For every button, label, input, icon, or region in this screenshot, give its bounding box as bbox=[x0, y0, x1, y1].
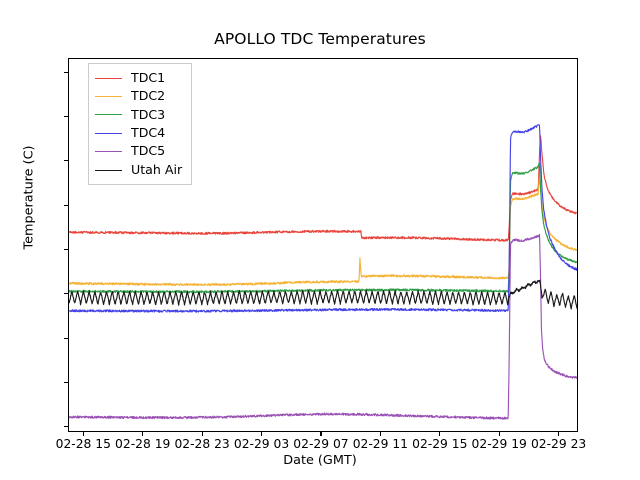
legend-item-label: TDC3 bbox=[131, 109, 165, 122]
legend-item-label: TDC5 bbox=[131, 145, 165, 158]
x-axis-tick-mark bbox=[142, 432, 143, 436]
legend-item-label: TDC2 bbox=[131, 90, 165, 103]
legend-item-utah-air[interactable]: Utah Air bbox=[95, 161, 182, 179]
x-axis-tick-mark bbox=[380, 432, 381, 436]
x-axis-label: Date (GMT) bbox=[0, 453, 640, 468]
x-axis-tick-mark bbox=[202, 432, 203, 436]
x-axis-tick-mark bbox=[83, 432, 84, 436]
figure-canvas: APOLLO TDC Temperatures 5101520253035404… bbox=[0, 0, 640, 480]
legend-color-swatch bbox=[95, 170, 122, 171]
x-axis-tick-mark bbox=[261, 432, 262, 436]
series-line-tdc5 bbox=[69, 234, 577, 419]
legend-item-label: TDC1 bbox=[131, 72, 165, 85]
legend: TDC1TDC2TDC3TDC4TDC5Utah Air bbox=[88, 63, 192, 185]
legend-color-swatch bbox=[95, 133, 122, 134]
x-axis-tick-label: 02-29 23 bbox=[514, 437, 604, 451]
legend-color-swatch bbox=[95, 96, 122, 97]
y-axis-label: Temperature (C) bbox=[22, 68, 37, 328]
legend-color-swatch bbox=[95, 114, 122, 115]
x-axis-tick-mark bbox=[499, 432, 500, 436]
page-title: APOLLO TDC Temperatures bbox=[0, 30, 640, 48]
legend-item-tdc1[interactable]: TDC1 bbox=[95, 69, 182, 87]
legend-item-label: TDC4 bbox=[131, 127, 165, 140]
legend-item-tdc3[interactable]: TDC3 bbox=[95, 106, 182, 124]
x-axis-tick-mark bbox=[439, 432, 440, 436]
x-axis-tick-mark bbox=[320, 432, 321, 436]
legend-item-label: Utah Air bbox=[131, 164, 182, 177]
legend-item-tdc5[interactable]: TDC5 bbox=[95, 143, 182, 161]
legend-color-swatch bbox=[95, 151, 122, 152]
legend-color-swatch bbox=[95, 78, 122, 79]
legend-item-tdc4[interactable]: TDC4 bbox=[95, 124, 182, 142]
legend-item-tdc2[interactable]: TDC2 bbox=[95, 87, 182, 105]
x-axis-tick-mark bbox=[558, 432, 559, 436]
